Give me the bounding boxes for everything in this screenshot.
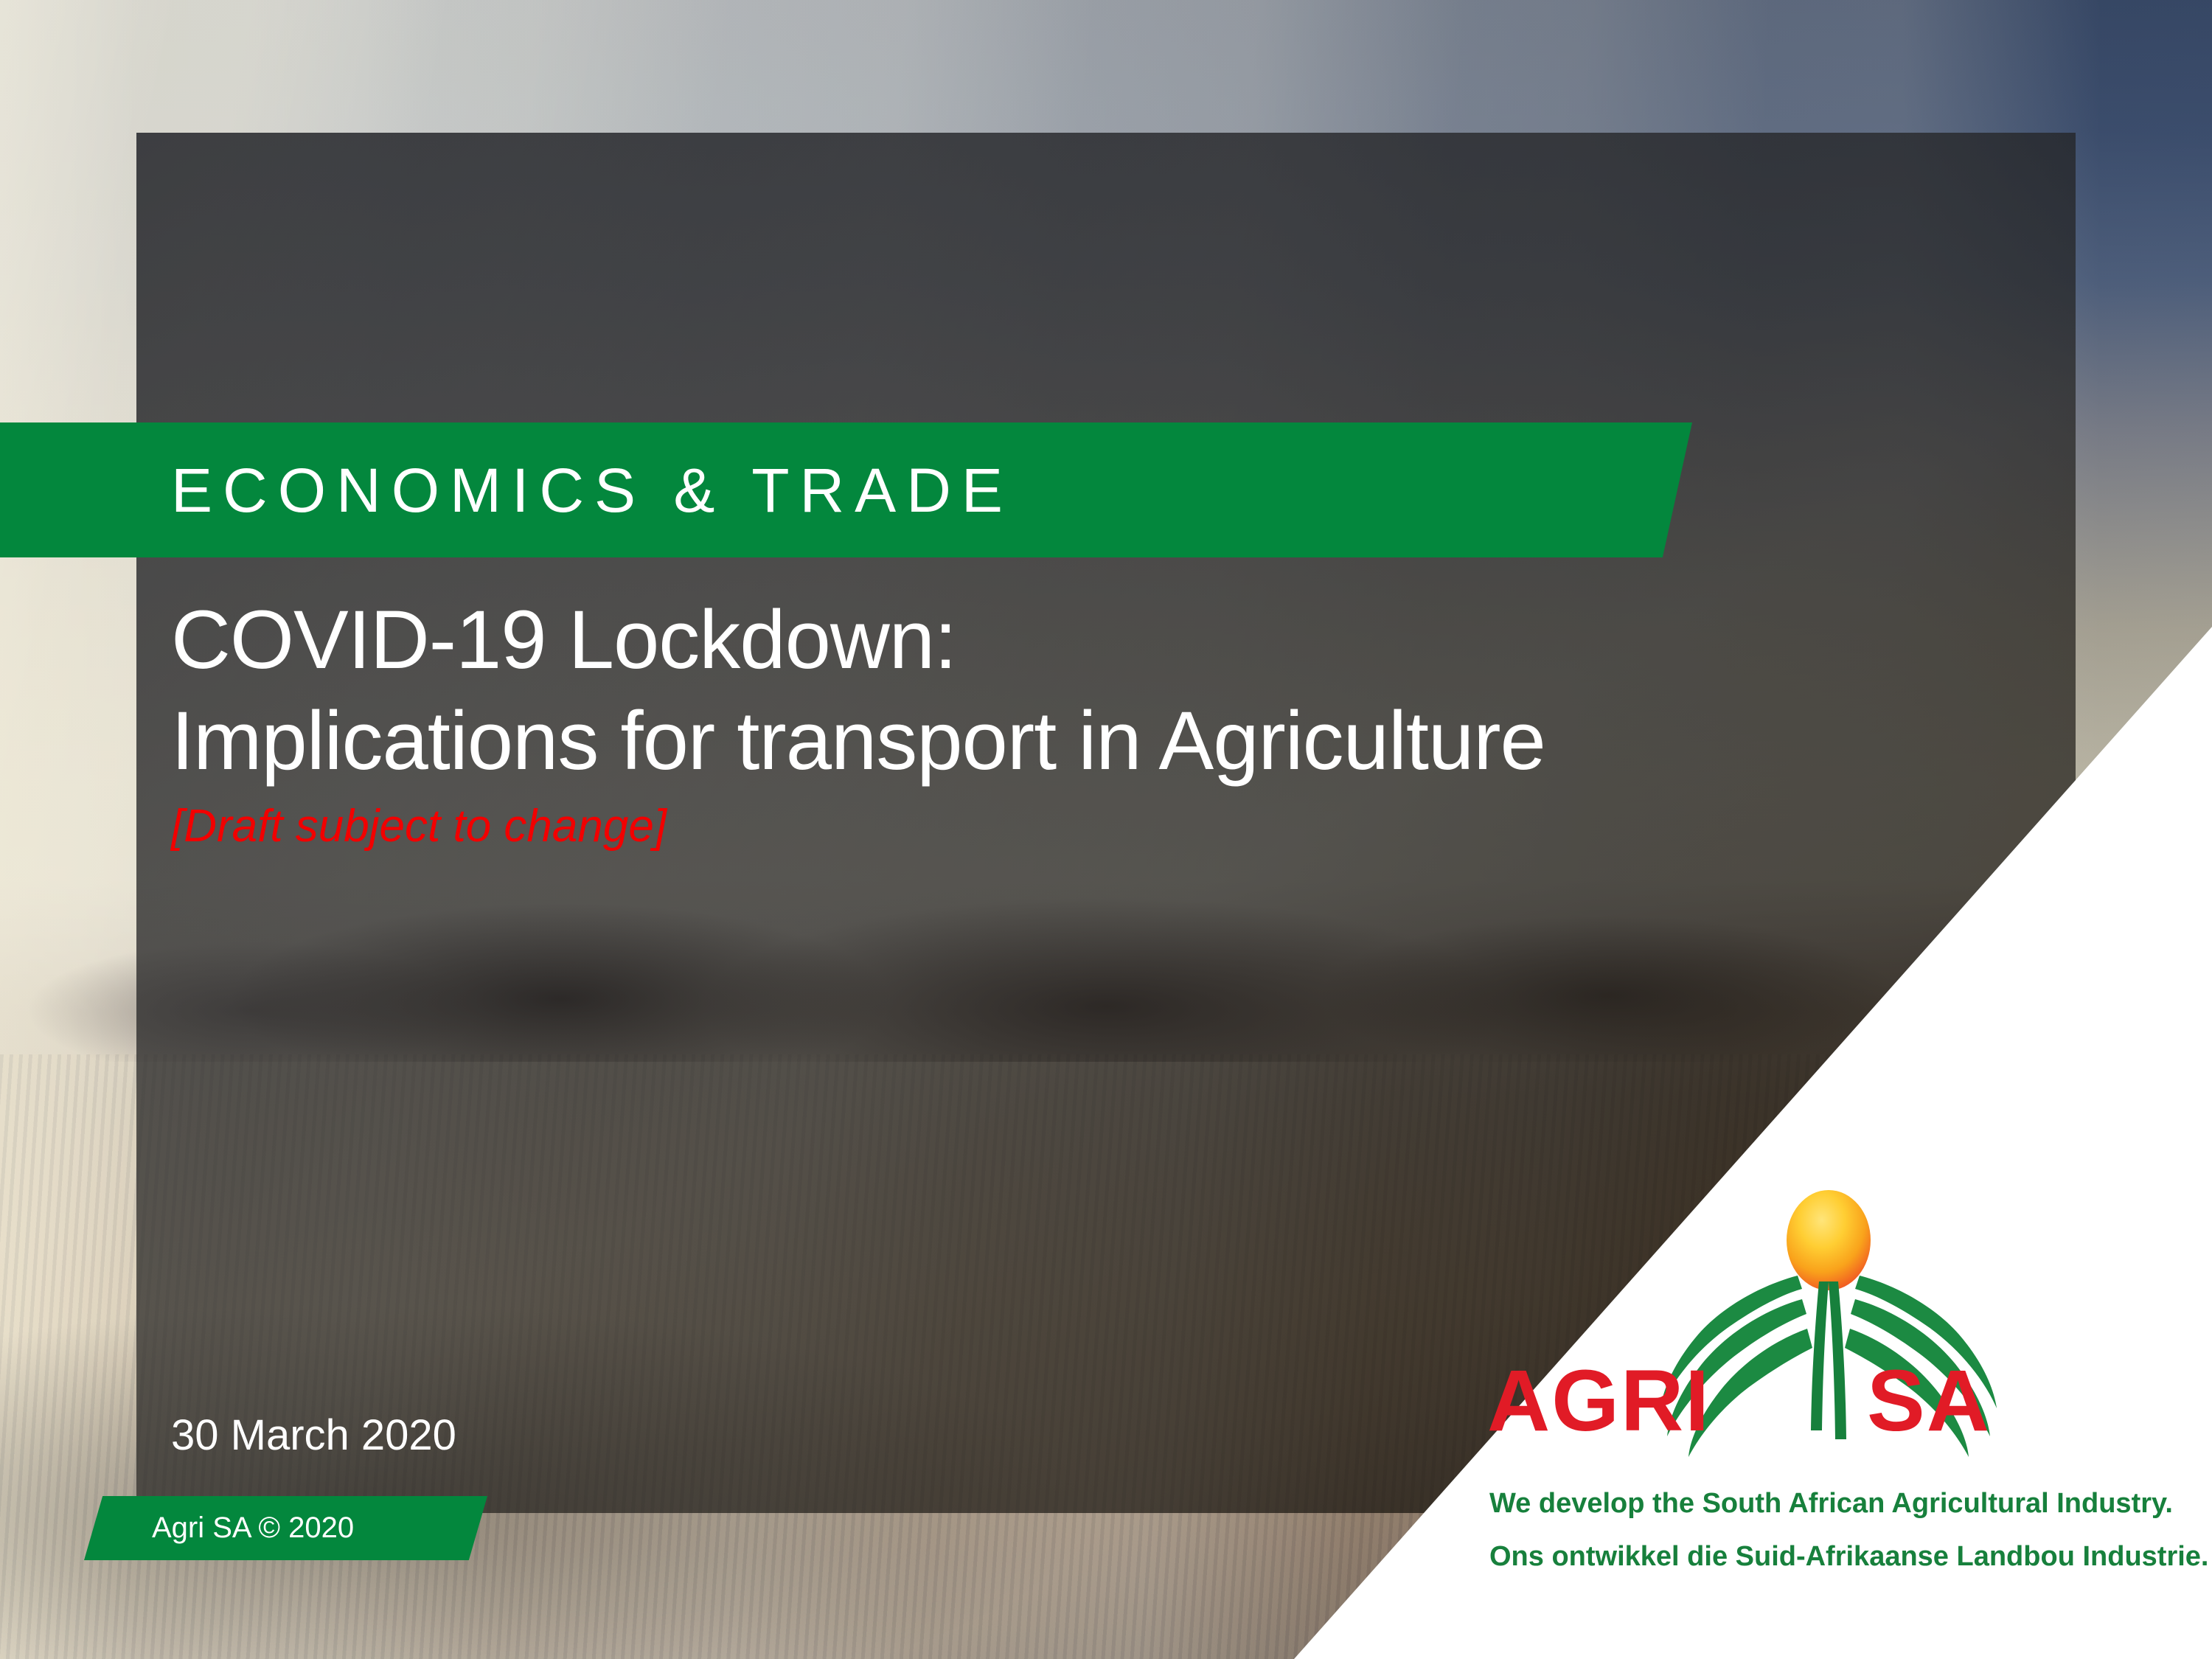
agri-sa-logo-mark: AGRI SA <box>1489 1187 2168 1471</box>
slide-title-line-2: Implications for transport in Agricultur… <box>171 691 1882 792</box>
slide-title-line-1: COVID-19 Lockdown: <box>171 590 1882 691</box>
slide-subtitle-draft-notice: [Draft subject to change] <box>171 801 1882 852</box>
copyright-label: Agri SA © 2020 <box>152 1512 354 1545</box>
logo-wordmark-agri: AGRI <box>1489 1352 1711 1450</box>
section-banner-label: ECONOMICS & TRADE <box>171 459 1013 521</box>
logo-wordmark-sa: SA <box>1867 1352 1991 1450</box>
copyright-tag: Agri SA © 2020 <box>84 1496 487 1560</box>
logo-tagline-afrikaans: Ons ontwikkel die Suid-Afrikaanse Landbo… <box>1489 1537 2168 1577</box>
section-banner: ECONOMICS & TRADE <box>0 422 1692 557</box>
agri-sa-plant-logo-icon: AGRI SA <box>1489 1187 2168 1471</box>
slide-date: 30 March 2020 <box>171 1411 456 1460</box>
agri-sa-logo-lockup: AGRI SA We develop the South African Agr… <box>1489 1187 2168 1577</box>
presentation-slide: ECONOMICS & TRADE COVID-19 Lockdown: Imp… <box>0 0 2212 1659</box>
logo-tagline-english: We develop the South African Agricultura… <box>1489 1484 2168 1524</box>
title-block: COVID-19 Lockdown: Implications for tran… <box>171 590 1882 852</box>
sun-seed-icon <box>1787 1190 1871 1290</box>
